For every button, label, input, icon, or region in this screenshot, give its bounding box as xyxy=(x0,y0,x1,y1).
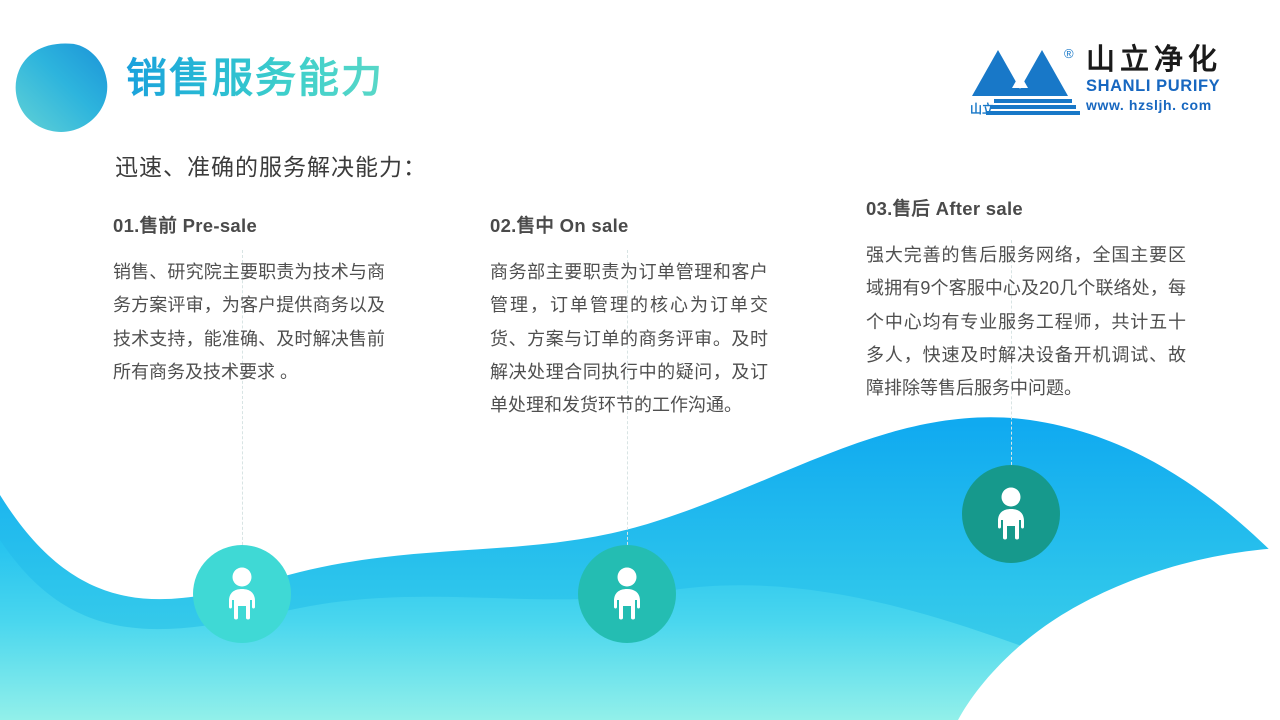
svg-text:®: ® xyxy=(1064,46,1074,61)
decorative-blob-icon xyxy=(14,42,110,134)
page-title: 销售服务能力 xyxy=(126,56,384,101)
column-body-on-sale: 商务部主要职责为订单管理和客户管理，订单管理的核心为订单交货、方案与订单的商务评… xyxy=(490,256,768,422)
logo-company-cn: 山立净化 xyxy=(1086,46,1222,75)
column-body-pre-sale: 销售、研究院主要职责为技术与商务方案评审，为客户提供商务以及技术支持，能准确、及… xyxy=(113,256,385,389)
column-on-sale: 02.售中 On sale 商务部主要职责为订单管理和客户管理，订单管理的核心为… xyxy=(490,212,768,422)
logo-text-block: 山立净化 SHANLI PURIFY www. hzsljh. com xyxy=(1086,46,1222,112)
column-heading-on-sale: 02.售中 On sale xyxy=(490,212,768,238)
svg-text:山立: 山立 xyxy=(970,101,994,116)
badge-pre-sale xyxy=(193,545,291,643)
logo-company-en: SHANLI PURIFY xyxy=(1086,78,1222,95)
section-subtitle: 迅速、准确的服务解决能力： xyxy=(115,148,427,182)
person-icon xyxy=(220,566,264,622)
column-heading-pre-sale: 01.售前 Pre-sale xyxy=(113,212,385,238)
badge-after-sale xyxy=(962,465,1060,563)
column-body-after-sale: 强大完善的售后服务网络，全国主要区域拥有9个客服中心及20几个联络处，每个中心均… xyxy=(866,239,1186,405)
badge-on-sale xyxy=(578,545,676,643)
logo-website: www. hzsljh. com xyxy=(1086,98,1222,112)
column-after-sale: 03.售后 After sale 强大完善的售后服务网络，全国主要区域拥有9个客… xyxy=(866,195,1186,405)
column-pre-sale: 01.售前 Pre-sale 销售、研究院主要职责为技术与商务方案评审，为客户提… xyxy=(113,212,385,389)
company-logo: ® 山立 山立净化 SHANLI PURIFY www. hzsljh. com xyxy=(968,44,1222,116)
column-heading-after-sale: 03.售后 After sale xyxy=(866,195,1186,221)
person-icon xyxy=(989,486,1033,542)
slide-canvas: 销售服务能力 ® 山立 山立净化 SHANLI PURIFY www. hzsl… xyxy=(0,0,1280,720)
person-icon xyxy=(605,566,649,622)
mountain-triangles-icon: ® 山立 xyxy=(968,44,1080,116)
